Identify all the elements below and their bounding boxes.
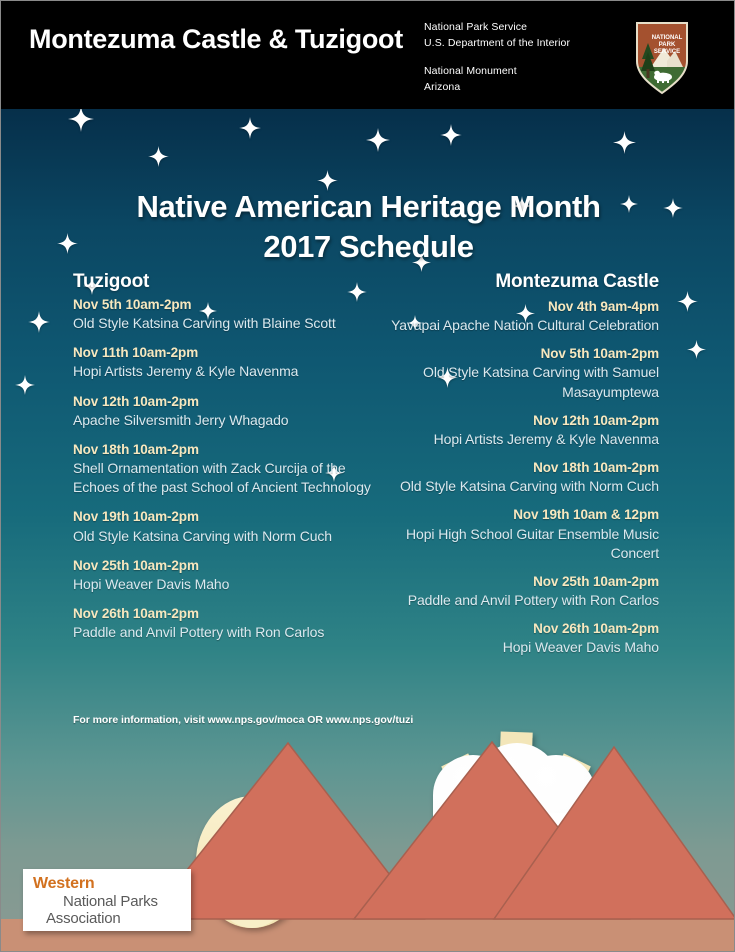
event-date: Nov 12th 10am-2pm xyxy=(381,411,659,430)
unit-block: National Monument Arizona xyxy=(424,64,517,96)
event-date: Nov 26th 10am-2pm xyxy=(381,619,659,638)
event-description: Hopi Artists Jeremy & Kyle Navenma xyxy=(73,362,373,381)
event-date: Nov 19th 10am-2pm xyxy=(73,507,373,526)
schedule-event: Nov 26th 10am-2pmHopi Weaver Davis Maho xyxy=(381,619,659,657)
schedule-event: Nov 18th 10am-2pmOld Style Katsina Carvi… xyxy=(381,458,659,496)
event-description: Hopi Artists Jeremy & Kyle Navenma xyxy=(381,430,659,449)
poster-title-block: Native American Heritage Month 2017 Sche… xyxy=(1,187,735,266)
schedule-event: Nov 5th 10am-2pmOld Style Katsina Carvin… xyxy=(381,344,659,402)
event-date: Nov 5th 10am-2pm xyxy=(381,344,659,363)
schedule-column-tuzigoot: TuzigootNov 5th 10am-2pmOld Style Katsin… xyxy=(73,271,373,652)
event-description: Apache Silversmith Jerry Whagado xyxy=(73,411,373,430)
event-date: Nov 18th 10am-2pm xyxy=(73,440,373,459)
event-description: Old Style Katsina Carving with Norm Cuch xyxy=(73,527,373,546)
svg-text:NATIONAL: NATIONAL xyxy=(652,35,683,41)
schedule-event: Nov 12th 10am-2pmHopi Artists Jeremy & K… xyxy=(381,411,659,449)
event-description: Hopi Weaver Davis Maho xyxy=(73,575,373,594)
schedule-event: Nov 4th 9am-4pmYavapai Apache Nation Cul… xyxy=(381,297,659,335)
agency-block: National Park Service U.S. Department of… xyxy=(424,20,570,52)
schedule-event: Nov 25th 10am-2pmPaddle and Anvil Potter… xyxy=(381,572,659,610)
event-date: Nov 11th 10am-2pm xyxy=(73,343,373,362)
event-description: Old Style Katsina Carving with Blaine Sc… xyxy=(73,314,373,333)
wnpa-logo-word-western: Western xyxy=(33,875,94,893)
schedule-column-montezuma-castle: Montezuma CastleNov 4th 9am-4pmYavapai A… xyxy=(381,271,659,667)
footer-note: For more information, visit www.nps.gov/… xyxy=(73,714,413,726)
event-date: Nov 18th 10am-2pm xyxy=(381,458,659,477)
agency-line-1: National Park Service xyxy=(424,20,570,36)
unit-line-2: Arizona xyxy=(424,80,517,96)
schedule-event: Nov 19th 10am-2pmOld Style Katsina Carvi… xyxy=(73,507,373,545)
event-description: Hopi Weaver Davis Maho xyxy=(381,638,659,657)
schedule-event: Nov 12th 10am-2pmApache Silversmith Jerr… xyxy=(73,392,373,430)
title-line-1: Native American Heritage Month xyxy=(1,187,735,227)
title-line-2: 2017 Schedule xyxy=(1,227,735,267)
svg-text:PARK: PARK xyxy=(659,42,676,48)
event-description: Old Style Katsina Carving with Samuel Ma… xyxy=(381,363,659,401)
poster-header: Montezuma Castle & Tuzigoot National Par… xyxy=(1,1,735,109)
agency-line-2: U.S. Department of the Interior xyxy=(424,36,570,52)
event-date: Nov 25th 10am-2pm xyxy=(73,556,373,575)
event-description: Shell Ornamentation with Zack Curcija of… xyxy=(73,459,373,497)
wnpa-logo: Western National Parks Association xyxy=(23,869,191,931)
wnpa-logo-word-association: Association xyxy=(46,910,121,927)
schedule-event: Nov 25th 10am-2pmHopi Weaver Davis Maho xyxy=(73,556,373,594)
column-heading: Tuzigoot xyxy=(73,271,373,293)
unit-line-1: National Monument xyxy=(424,64,517,80)
schedule-event: Nov 5th 10am-2pmOld Style Katsina Carvin… xyxy=(73,295,373,333)
schedule-event: Nov 19th 10am & 12pmHopi High School Gui… xyxy=(381,505,659,563)
event-date: Nov 26th 10am-2pm xyxy=(73,604,373,623)
event-description: Paddle and Anvil Pottery with Ron Carlos xyxy=(381,591,659,610)
event-description: Old Style Katsina Carving with Norm Cuch xyxy=(381,477,659,496)
wnpa-logo-word-national-parks: National Parks xyxy=(63,893,158,910)
event-date: Nov 4th 9am-4pm xyxy=(381,297,659,316)
poster-canvas: Montezuma Castle & Tuzigoot National Par… xyxy=(0,0,735,952)
event-description: Hopi High School Guitar Ensemble Music C… xyxy=(381,525,659,563)
nps-arrowhead-icon: NATIONAL PARK SERVICE xyxy=(631,19,693,95)
column-heading: Montezuma Castle xyxy=(381,271,659,293)
event-description: Yavapai Apache Nation Cultural Celebrati… xyxy=(381,316,659,335)
page-title: Montezuma Castle & Tuzigoot xyxy=(29,21,409,58)
event-description: Paddle and Anvil Pottery with Ron Carlos xyxy=(73,623,373,642)
schedule-event: Nov 18th 10am-2pmShell Ornamentation wit… xyxy=(73,440,373,498)
event-date: Nov 5th 10am-2pm xyxy=(73,295,373,314)
event-date: Nov 19th 10am & 12pm xyxy=(381,505,659,524)
event-date: Nov 25th 10am-2pm xyxy=(381,572,659,591)
schedule-event: Nov 26th 10am-2pmPaddle and Anvil Potter… xyxy=(73,604,373,642)
event-date: Nov 12th 10am-2pm xyxy=(73,392,373,411)
svg-text:SERVICE: SERVICE xyxy=(654,49,680,55)
schedule-event: Nov 11th 10am-2pmHopi Artists Jeremy & K… xyxy=(73,343,373,381)
